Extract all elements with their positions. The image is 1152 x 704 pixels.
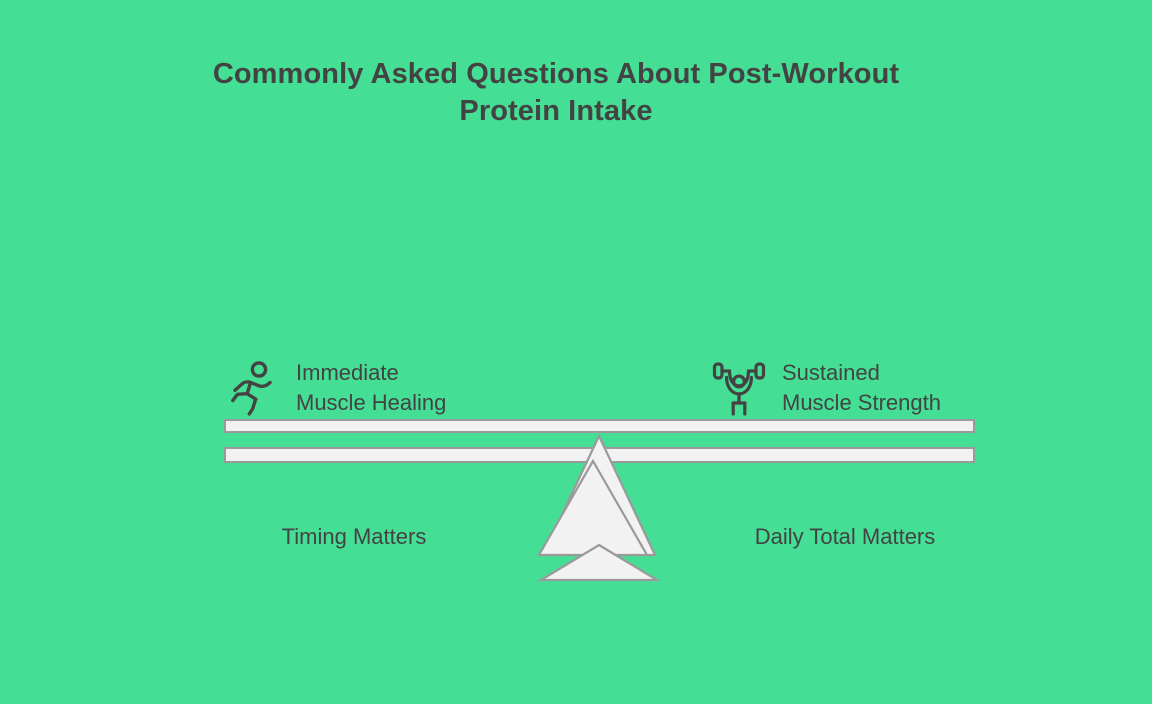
balance-left-caption: Timing Matters: [194, 523, 514, 551]
weightlifter-icon: [712, 360, 766, 416]
triangle-fulcrum: [530, 425, 670, 590]
balance-scale-diagram: Immediate Muscle Healing: [0, 0, 1152, 704]
balance-left-label: Immediate Muscle Healing: [296, 358, 446, 418]
balance-left-item: Immediate Muscle Healing: [226, 358, 446, 418]
balance-right-caption: Daily Total Matters: [685, 523, 1005, 551]
balance-right-item: Sustained Muscle Strength: [712, 358, 941, 418]
slide-canvas: Commonly Asked Questions About Post-Work…: [0, 0, 1152, 704]
balance-right-label: Sustained Muscle Strength: [782, 358, 941, 418]
running-person-icon: [226, 360, 280, 416]
